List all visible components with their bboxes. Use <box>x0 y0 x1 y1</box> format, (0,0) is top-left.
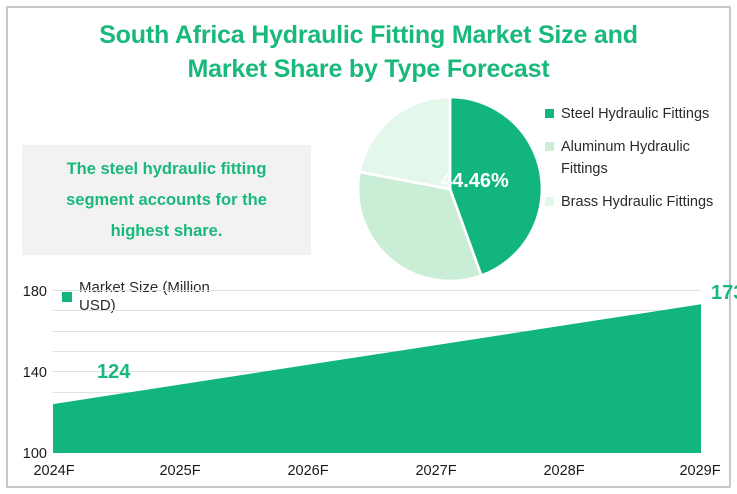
pie-legend: Steel Hydraulic Fittings Aluminum Hydrau… <box>545 103 735 224</box>
chart-title-line-1: South Africa Hydraulic Fitting Market Si… <box>0 18 737 52</box>
pie-chart: 44.46% <box>355 94 545 284</box>
pie-slice-percentage-label: 44.46% <box>441 170 509 193</box>
x-axis-tick-2027f: 2027F <box>404 463 468 479</box>
x-axis-tick-2026f: 2026F <box>276 463 340 479</box>
x-axis-tick-2025f: 2025F <box>148 463 212 479</box>
chart-canvas: South Africa Hydraulic Fitting Market Si… <box>0 0 737 494</box>
legend-marker-aluminum-icon <box>545 142 554 151</box>
legend-marker-brass-icon <box>545 197 554 206</box>
insight-callout-box: The steel hydraulic fitting segment acco… <box>22 145 311 255</box>
area-chart-plot-area: 124 173 <box>53 290 701 453</box>
x-axis-tick-2028f: 2028F <box>532 463 596 479</box>
x-axis-tick-2024f: 2024F <box>22 463 86 479</box>
insight-callout-text: The steel hydraulic fitting segment acco… <box>36 154 297 247</box>
legend-label-aluminum: Aluminum Hydraulic Fittings <box>561 136 729 180</box>
legend-item-brass[interactable]: Brass Hydraulic Fittings <box>545 191 735 213</box>
y-axis-tick-180: 180 <box>3 285 47 299</box>
y-axis-labels: 180 140 100 <box>0 278 47 458</box>
legend-marker-steel-icon <box>545 109 554 118</box>
legend-label-steel: Steel Hydraulic Fittings <box>561 103 709 125</box>
chart-title: South Africa Hydraulic Fitting Market Si… <box>0 18 737 86</box>
y-axis-tick-140: 140 <box>3 366 47 380</box>
chart-title-line-2: Market Share by Type Forecast <box>0 52 737 86</box>
legend-item-steel[interactable]: Steel Hydraulic Fittings <box>545 103 735 125</box>
legend-label-brass: Brass Hydraulic Fittings <box>561 191 713 213</box>
legend-item-aluminum[interactable]: Aluminum Hydraulic Fittings <box>545 136 735 180</box>
x-axis-labels: 2024F 2025F 2026F 2027F 2028F 2029F <box>0 458 737 488</box>
area-chart: Market Size (Million USD) 180 140 100 12… <box>0 278 737 494</box>
area-series-svg <box>53 290 701 453</box>
x-axis-tick-2029f: 2029F <box>668 463 732 479</box>
area-series-market-size <box>53 304 701 453</box>
data-label-start-124: 124 <box>97 361 130 384</box>
data-label-end-173: 173 <box>711 282 737 305</box>
pie-slice-brass <box>360 97 450 189</box>
